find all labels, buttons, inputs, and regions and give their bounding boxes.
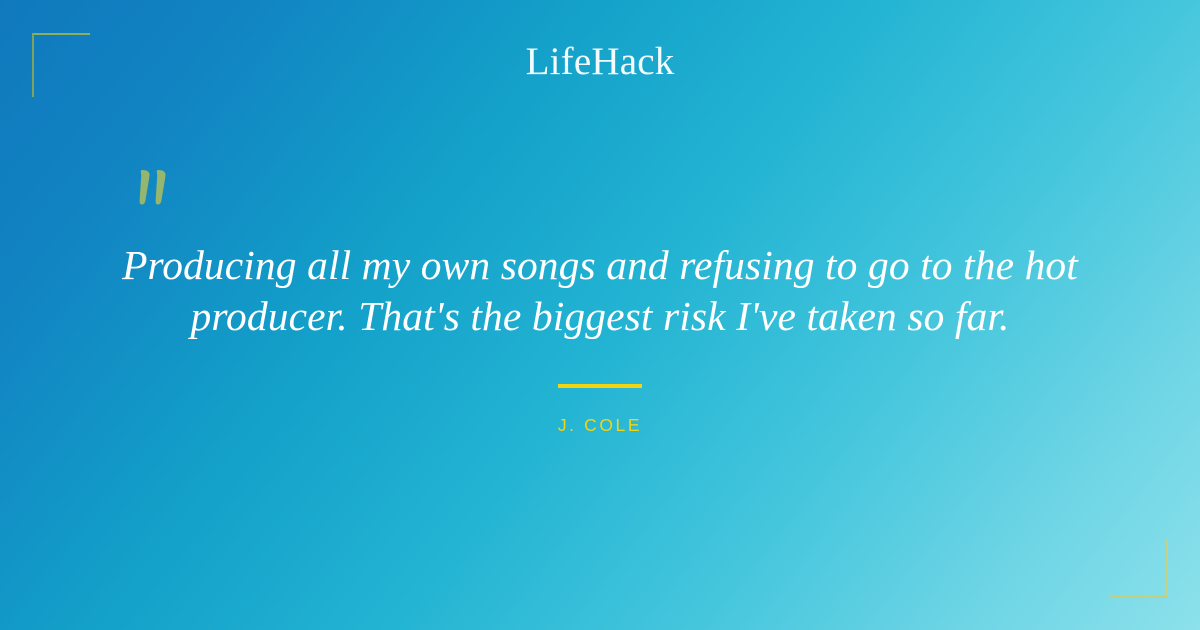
quote-card: LifeHack Producing all my own songs and … xyxy=(0,0,1200,630)
divider-wrap xyxy=(0,384,1200,402)
quote-block: Producing all my own songs and refusing … xyxy=(100,240,1100,342)
author-divider xyxy=(558,384,642,388)
quote-line-2: producer. That's the biggest risk I've t… xyxy=(100,291,1100,342)
brand-logo: LifeHack xyxy=(0,40,1200,84)
corner-bracket-icon-bottom-right xyxy=(1110,540,1168,598)
quote-author: J. COLE xyxy=(0,414,1200,436)
quote-line-1: Producing all my own songs and refusing … xyxy=(100,240,1100,291)
quote-mark-icon xyxy=(128,160,188,220)
